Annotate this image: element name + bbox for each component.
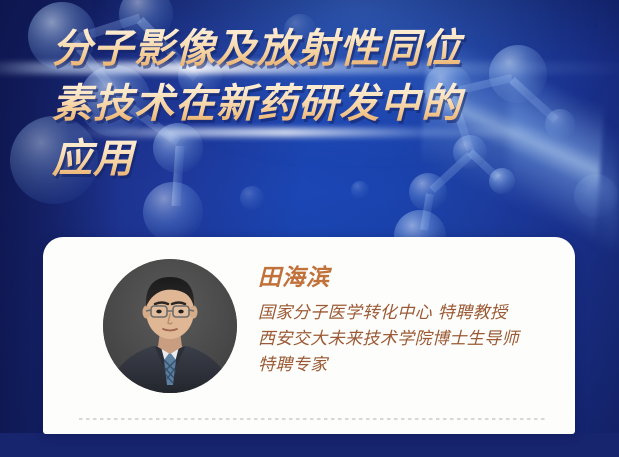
speaker-credential-1: 国家分子医学转化中心 特聘教授 [258,300,558,326]
poster-title: 分子影像及放射性同位 素技术在新药研发中的 应用 [52,22,597,187]
speaker-name: 田海滨 [258,263,558,293]
title-line-1: 分子影像及放射性同位 [52,22,597,77]
avatar [103,259,237,393]
promo-poster: 分子影像及放射性同位 素技术在新药研发中的 应用 [0,0,619,457]
title-line-2: 素技术在新药研发中的 [52,77,597,132]
card-divider [79,418,545,420]
speaker-info: 田海滨 国家分子医学转化中心 特聘教授 西安交大未来技术学院博士生导师 特聘专家 [258,263,558,378]
speaker-credential-2: 西安交大未来技术学院博士生导师 [258,326,558,352]
speaker-credential-3: 特聘专家 [258,352,558,378]
bottom-band [0,433,619,457]
speaker-card: 田海滨 国家分子医学转化中心 特聘教授 西安交大未来技术学院博士生导师 特聘专家 [43,237,575,434]
title-line-3: 应用 [52,132,597,187]
